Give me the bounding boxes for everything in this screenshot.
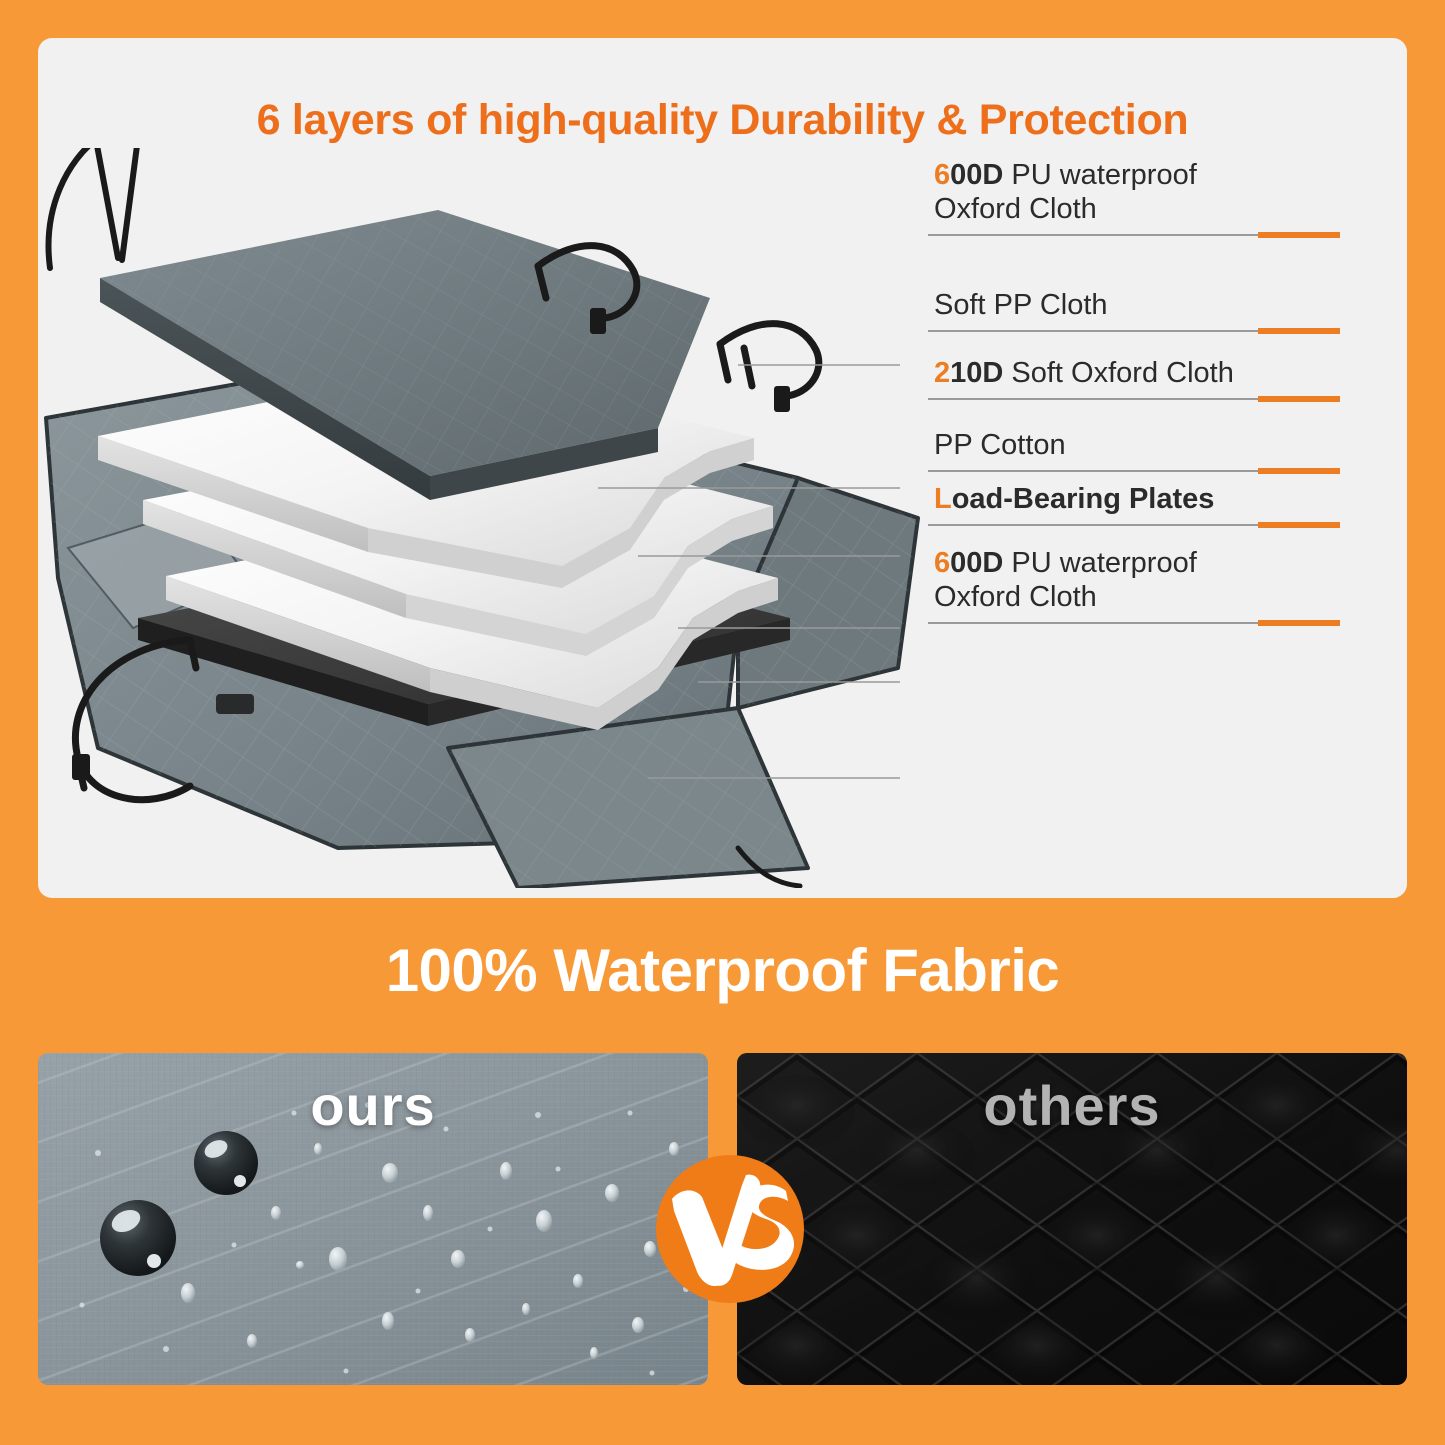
waterproof-banner: 100% Waterproof Fabric xyxy=(0,900,1445,1040)
label-bold-4: oad-Bearing Plates xyxy=(952,483,1215,515)
label-bold-5: 00D xyxy=(950,547,1003,579)
product-exploded-illustration xyxy=(38,148,938,888)
vs-badge: VS xyxy=(650,1149,810,1309)
label-cap-2: 2 xyxy=(934,357,950,389)
label-row-0: 600D PU waterproof Oxford Cloth xyxy=(898,158,1380,238)
label-rest-1: Soft PP Cloth xyxy=(934,289,1108,321)
label-cap-0: 6 xyxy=(934,159,950,191)
label-text-3: PP Cotton xyxy=(898,428,1380,462)
label-rule-5 xyxy=(898,620,1380,626)
label-rest-3: PP Cotton xyxy=(934,429,1066,461)
label-rule-accent-1 xyxy=(1258,328,1340,334)
label-text-5: 600D PU waterproof Oxford Cloth xyxy=(898,546,1380,614)
label-rule-accent-4 xyxy=(1258,522,1340,528)
label-cap-4: L xyxy=(934,483,952,515)
others-label: others xyxy=(737,1073,1407,1138)
label-bold-2: 10D xyxy=(950,357,1003,389)
label-rule-4 xyxy=(898,522,1380,528)
label-rule-accent-0 xyxy=(1258,232,1340,238)
label-text-0: 600D PU waterproof Oxford Cloth xyxy=(898,158,1380,226)
label-rule-1 xyxy=(898,328,1380,334)
ours-label: ours xyxy=(38,1073,708,1138)
label-row-2: 210D Soft Oxford Cloth xyxy=(898,356,1380,402)
label-rule-3 xyxy=(898,468,1380,474)
label-row-3: PP Cotton xyxy=(898,428,1380,474)
label-text-1: Soft PP Cloth xyxy=(898,288,1380,322)
label-row-5: 600D PU waterproof Oxford Cloth xyxy=(898,546,1380,626)
layers-card: 6 layers of high-quality Durability & Pr… xyxy=(38,38,1407,898)
water-bead-large-2 xyxy=(194,1131,258,1195)
water-bead-large xyxy=(100,1200,176,1276)
panel-others: others xyxy=(737,1053,1407,1385)
label-row-4: Load-Bearing Plates xyxy=(898,482,1380,528)
label-rule-accent-3 xyxy=(1258,468,1340,474)
label-rule-0 xyxy=(898,232,1380,238)
label-rule-accent-5 xyxy=(1258,620,1340,626)
label-text-2: 210D Soft Oxford Cloth xyxy=(898,356,1380,390)
label-rest-2: Soft Oxford Cloth xyxy=(1003,357,1234,389)
label-text-4: Load-Bearing Plates xyxy=(898,482,1380,516)
page-title: 6 layers of high-quality Durability & Pr… xyxy=(38,96,1407,145)
label-rule-accent-2 xyxy=(1258,396,1340,402)
label-bold-0: 00D xyxy=(950,159,1003,191)
label-rule-2 xyxy=(898,396,1380,402)
label-row-1: Soft PP Cloth xyxy=(898,288,1380,334)
panel-ours: ours xyxy=(38,1053,708,1385)
waterproof-title: 100% Waterproof Fabric xyxy=(386,936,1060,1005)
label-cap-5: 6 xyxy=(934,547,950,579)
layer-label-list: 600D PU waterproof Oxford Cloth Soft PP … xyxy=(898,158,1398,778)
